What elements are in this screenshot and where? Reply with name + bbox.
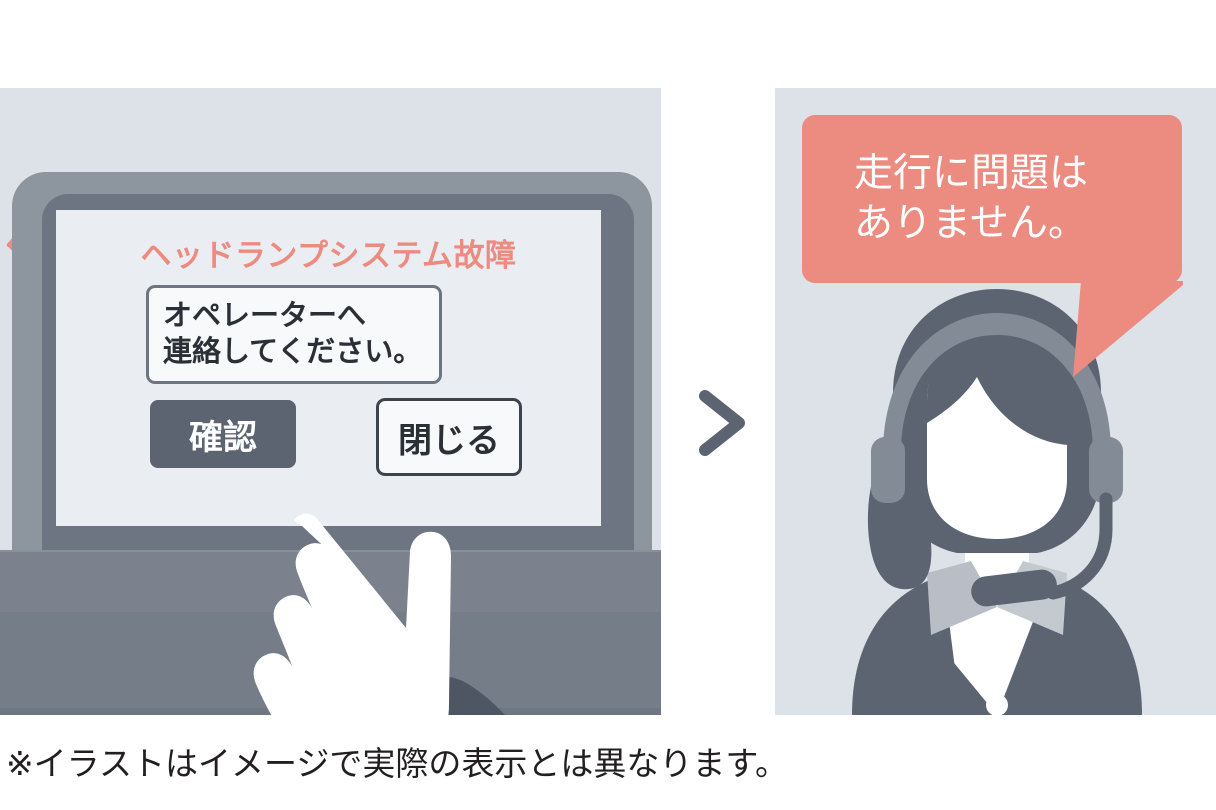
message-box: オペレーターへ 連絡してください。: [146, 285, 442, 384]
illustration-stage: ヘッドランプシステム故障 オペレーターへ 連絡してください。 確認 閉じる: [0, 0, 1216, 810]
left-panel-vehicle-display: ヘッドランプシステム故障 オペレーターへ 連絡してください。 確認 閉じる: [0, 88, 661, 715]
speech-bubble-tail: [1063, 281, 1183, 379]
infotainment-screen: ヘッドランプシステム故障 オペレーターへ 連絡してください。 確認 閉じる: [56, 210, 601, 526]
close-button[interactable]: 閉じる: [376, 398, 522, 476]
disclaimer-caption: ※イラストはイメージで実際の表示とは異なります。: [6, 737, 1006, 785]
speech-line-1: 走行に問題は: [854, 149, 1182, 199]
chevron-right-icon: [695, 390, 751, 456]
message-line-2: 連絡してください。: [149, 335, 439, 370]
speech-line-2: ありません。: [854, 199, 1182, 249]
right-panel-operator: 走行に問題は ありません。: [775, 88, 1216, 715]
alert-title: ヘッドランプシステム故障: [56, 230, 601, 275]
speech-bubble-text: 走行に問題は ありません。: [802, 115, 1182, 283]
confirm-button[interactable]: 確認: [150, 400, 296, 468]
pointing-hand-icon: [210, 508, 590, 715]
message-line-1: オペレーターへ: [149, 299, 439, 334]
